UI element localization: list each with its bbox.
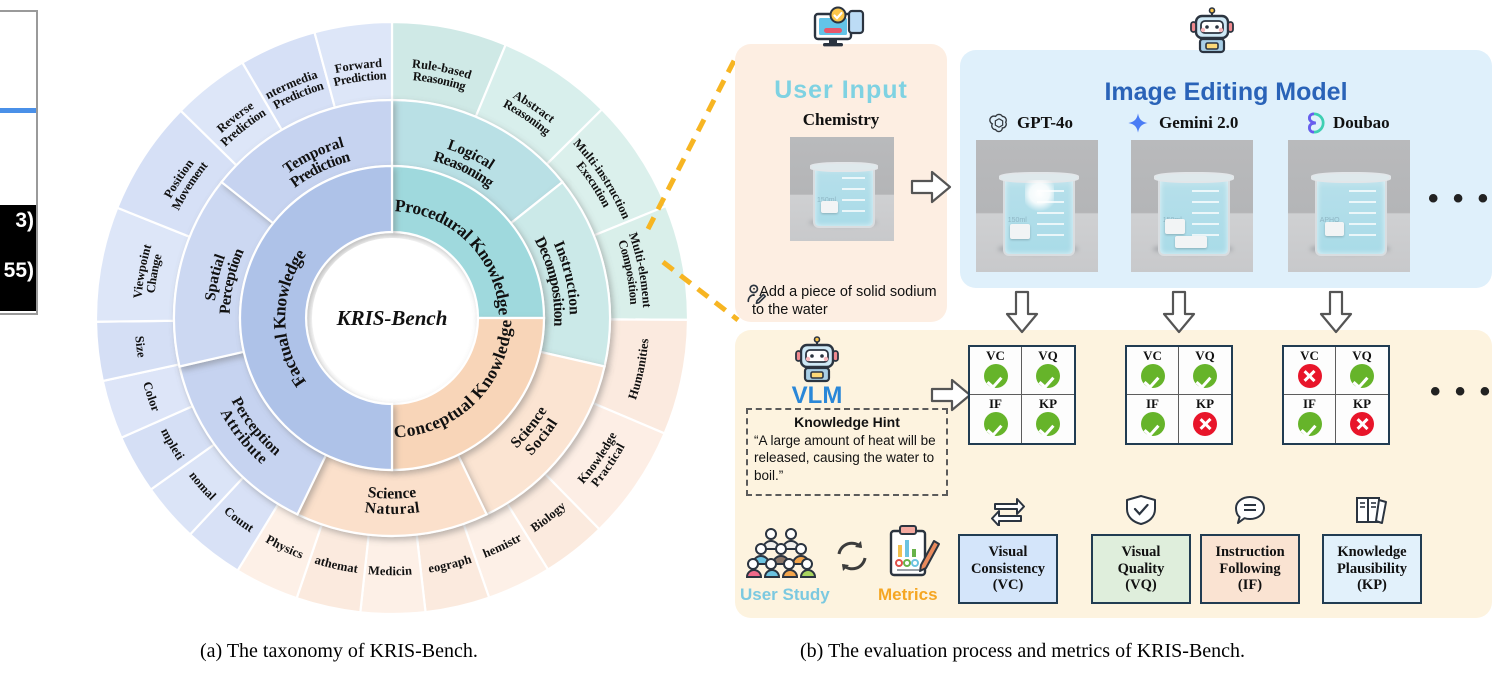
crowd-icon — [745, 527, 817, 579]
image-editing-model-title: Image Editing Model — [960, 78, 1492, 107]
score-cell-label: VC — [1300, 349, 1319, 362]
score-cell-vq: VQ — [1179, 347, 1231, 395]
gemini-spark-icon — [1127, 112, 1149, 134]
check-icon — [1036, 412, 1060, 436]
user-instruction-text: : Add a piece of solid sodium to the wat… — [752, 283, 942, 319]
score-cell-label: VQ — [1195, 349, 1215, 362]
connector-line-top — [648, 53, 738, 229]
score-cell-label: VQ — [1352, 349, 1372, 362]
user-input-subject: Chemistry — [735, 110, 947, 130]
metric-line: Instruction — [1215, 544, 1284, 561]
metric-label-vc: VisualConsistency(VC) — [971, 544, 1045, 594]
score-cell-label: VC — [1143, 349, 1162, 362]
knowledge-hint-text: “A large amount of heat will be released… — [754, 432, 940, 484]
metrics-label: Metrics — [878, 585, 938, 605]
metric-label-vq: VisualQuality(VQ) — [1118, 544, 1165, 594]
circular-arrows-icon — [834, 538, 870, 574]
metric-line: Visual — [971, 544, 1045, 561]
speech-bubble-icon — [1233, 494, 1267, 526]
score-cell-label: IF — [1146, 397, 1159, 410]
doubao-logo-icon — [1303, 112, 1325, 134]
eval-more-ellipsis: • • • — [1430, 375, 1493, 409]
output-image-gemini: 150ml — [1131, 140, 1253, 272]
metric-label-kp: KnowledgePlausibility(KP) — [1337, 544, 1407, 594]
figure-root: 3) 55) KRIS-Bench Procedural KnowledgeCo… — [0, 0, 1504, 688]
check-icon — [1141, 412, 1165, 436]
metric-line: (IF) — [1215, 577, 1284, 594]
metric-line: (KP) — [1337, 577, 1407, 594]
check-icon — [1298, 412, 1322, 436]
user-input-title: User Input — [735, 76, 947, 105]
arrow-down-icon-1 — [1005, 290, 1039, 334]
score-cell-if: IF — [1284, 395, 1336, 443]
metric-line: Consistency — [971, 561, 1045, 578]
robot-icon-vlm — [795, 337, 839, 383]
caption-a: (a) The taxonomy of KRIS-Bench. — [200, 640, 478, 663]
monitor-idea-icon — [812, 6, 868, 52]
score-grid-gemini: VCVQIFKP — [1125, 345, 1233, 445]
score-cell-label: IF — [989, 397, 1002, 410]
score-cell-label: KP — [1353, 397, 1371, 410]
arrow-right-icon-2 — [930, 378, 972, 412]
check-icon — [984, 412, 1008, 436]
score-cell-vc: VC — [970, 347, 1022, 395]
score-cell-if: IF — [1127, 395, 1179, 443]
metric-line: Following — [1215, 561, 1284, 578]
vlm-title: VLM — [757, 382, 877, 410]
input-image-beaker: 150ml — [790, 137, 894, 241]
shield-check-icon — [1124, 494, 1158, 526]
score-cell-kp: KP — [1179, 395, 1231, 443]
metric-box-visual-consistency: VisualConsistency(VC) — [958, 534, 1058, 604]
metric-box-instruction-following: InstructionFollowing(IF) — [1200, 534, 1300, 604]
check-icon — [1036, 364, 1060, 388]
metric-line: Plausibility — [1337, 561, 1407, 578]
swap-arrows-icon — [991, 494, 1025, 526]
model-name-gpt4o: GPT-4o — [1017, 113, 1073, 133]
score-grid-doubao: VCVQIFKP — [1282, 345, 1390, 445]
robot-icon — [1190, 8, 1234, 54]
openai-logo-icon — [988, 112, 1010, 134]
metric-line: Quality — [1118, 561, 1165, 578]
metric-line: (VC) — [971, 577, 1045, 594]
clipboard-chart-icon — [885, 525, 941, 579]
cross-icon — [1350, 412, 1374, 436]
arrow-right-icon — [910, 170, 952, 204]
score-cell-label: KP — [1039, 397, 1057, 410]
check-icon — [1350, 364, 1374, 388]
model-more-ellipsis: • • • — [1428, 182, 1491, 216]
output-image-doubao: APHO — [1288, 140, 1410, 272]
score-cell-label: VC — [986, 349, 1005, 362]
metric-box-knowledge-plausibility: KnowledgePlausibility(KP) — [1322, 534, 1422, 604]
output-image-gpt4o: 150ml — [976, 140, 1098, 272]
score-cell-kp: KP — [1336, 395, 1388, 443]
metric-box-visual-quality: VisualQuality(VQ) — [1091, 534, 1191, 604]
score-cell-label: VQ — [1038, 349, 1058, 362]
score-grid-gpt4o: VCVQIFKP — [968, 345, 1076, 445]
metric-line: (VQ) — [1118, 577, 1165, 594]
score-cell-vq: VQ — [1336, 347, 1388, 395]
knowledge-hint-title: Knowledge Hint — [754, 414, 940, 430]
score-cell-vc: VC — [1284, 347, 1336, 395]
caption-b: (b) The evaluation process and metrics o… — [800, 640, 1245, 663]
arrow-down-icon-3 — [1319, 290, 1353, 334]
score-cell-label: KP — [1196, 397, 1214, 410]
check-icon — [1193, 364, 1217, 388]
metric-line: Visual — [1118, 544, 1165, 561]
metric-line: Knowledge — [1337, 544, 1407, 561]
cross-icon — [1193, 412, 1217, 436]
score-cell-vc: VC — [1127, 347, 1179, 395]
arrow-down-icon-2 — [1162, 290, 1196, 334]
score-cell-if: IF — [970, 395, 1022, 443]
model-name-gemini: Gemini 2.0 — [1159, 113, 1238, 133]
score-cell-label: IF — [1303, 397, 1316, 410]
score-cell-kp: KP — [1022, 395, 1074, 443]
knowledge-hint-box: Knowledge Hint “A large amount of heat w… — [746, 408, 948, 496]
check-icon — [984, 364, 1008, 388]
metric-label-if: InstructionFollowing(IF) — [1215, 544, 1284, 594]
books-icon — [1355, 494, 1389, 526]
user-study-label: User Study — [740, 585, 830, 605]
connector-line-bottom — [663, 262, 738, 320]
check-icon — [1141, 364, 1165, 388]
cross-icon — [1298, 364, 1322, 388]
score-cell-vq: VQ — [1022, 347, 1074, 395]
model-name-doubao: Doubao — [1333, 113, 1390, 133]
